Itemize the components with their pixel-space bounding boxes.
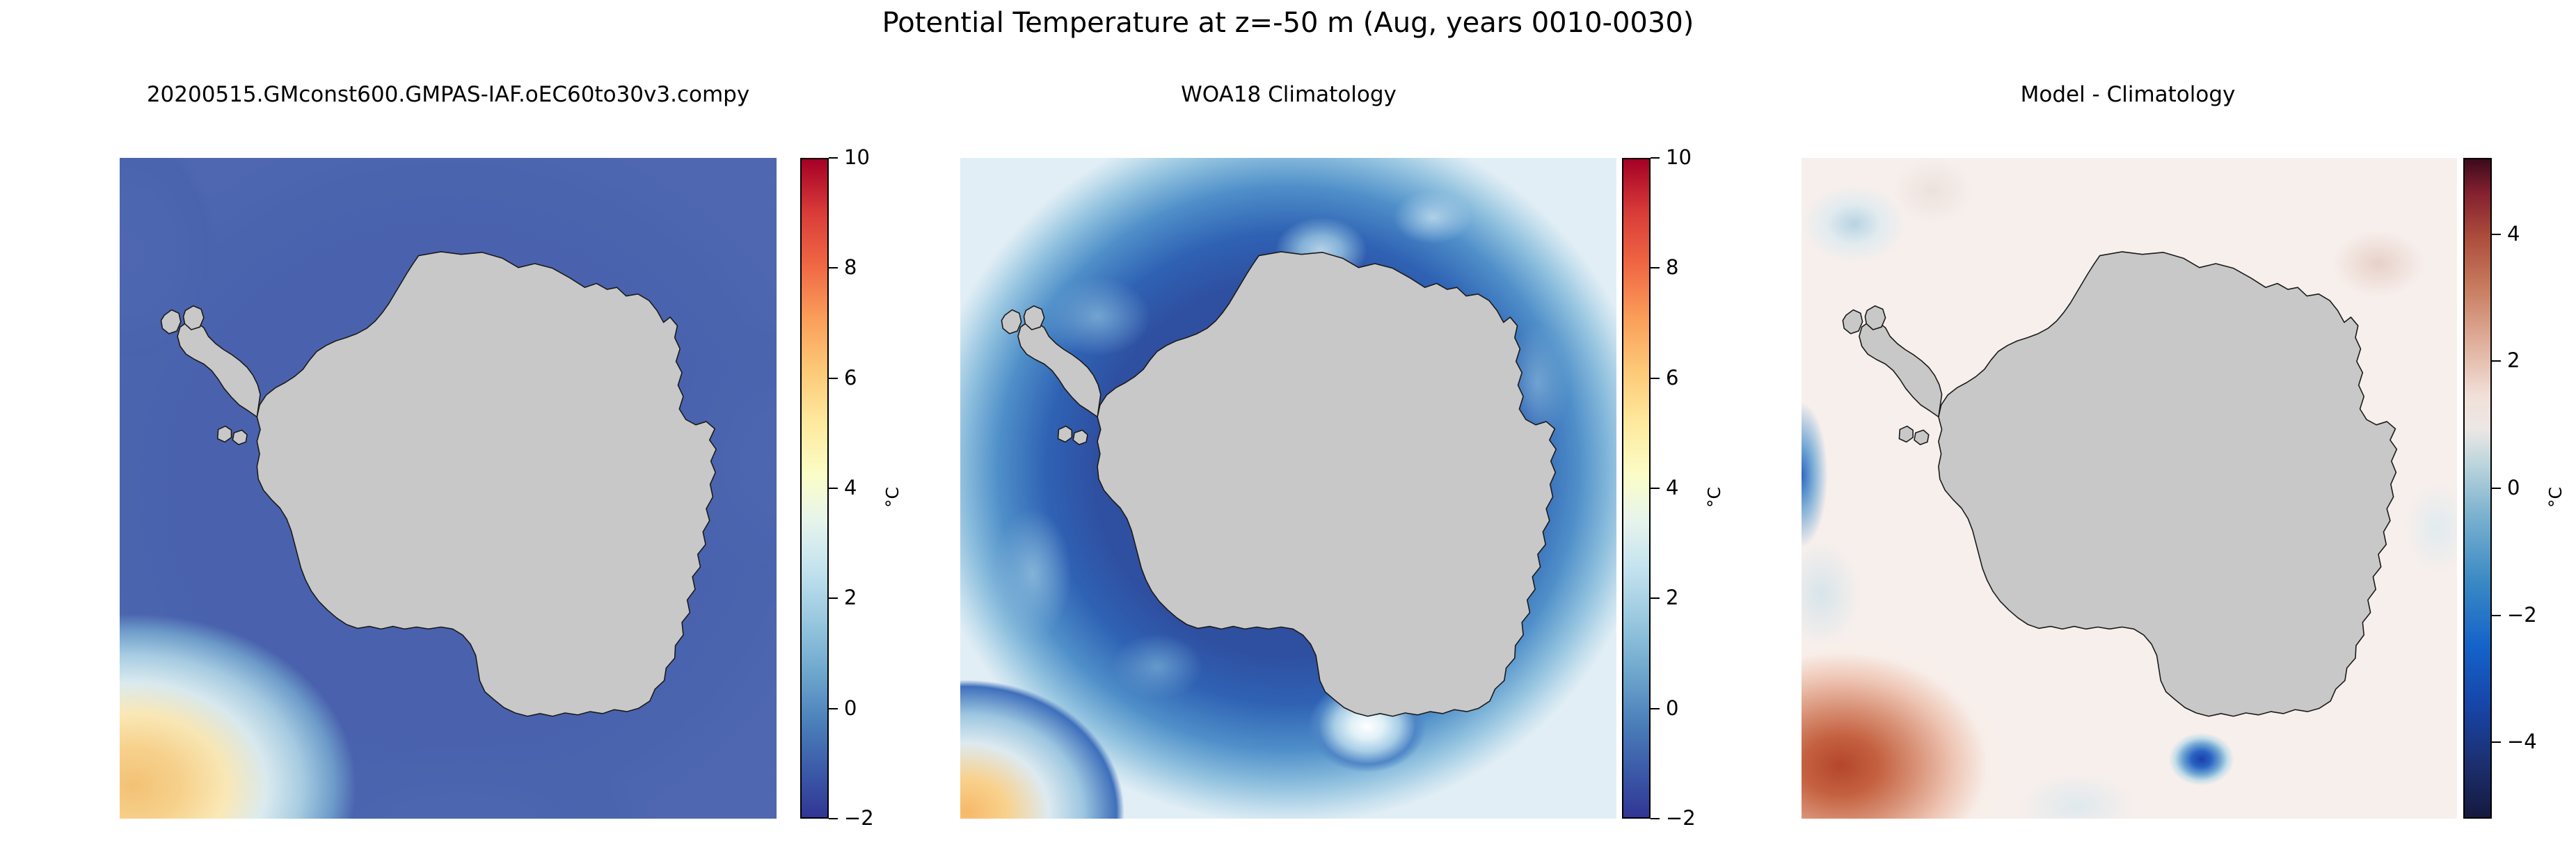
tick-mark [829,488,838,489]
tick-label: 8 [1666,254,1678,280]
tick-mark [2492,741,2501,743]
tick-label: 2 [1666,584,1678,611]
colorbar-ticks-climatology: 1086420−2 [1651,158,1755,819]
tick-label: 6 [844,364,857,391]
panel-title-difference: Model - Climatology [1680,82,2576,107]
colorbar-model[interactable] [800,158,829,819]
tick-mark [829,818,838,819]
tick-label: 4 [1666,474,1678,501]
tick-label: 0 [1666,695,1678,721]
tick-label: 0 [2507,474,2520,501]
colorbar-label-difference: °C [2545,487,2566,508]
tick-mark [2492,615,2501,616]
tick-label: 2 [844,584,857,611]
tick-label: 0 [844,695,857,721]
colorbar-label-climatology: °C [1704,487,1724,508]
coastline-island [1843,310,1862,334]
tick-label: −2 [844,805,874,831]
tick-label: −4 [2507,728,2537,755]
figure-suptitle: Potential Temperature at z=-50 m (Aug, y… [0,7,2576,39]
tick-mark [2492,360,2501,362]
antarctica-landmass-climatology [960,158,1616,819]
tick-label: 10 [1666,144,1692,170]
tick-label: 6 [1666,364,1678,391]
tick-mark [1651,597,1660,599]
colorbar-ticks-model: 1086420−2 [829,158,933,819]
tick-label: 8 [844,254,857,280]
tick-label: 2 [2507,347,2520,374]
coastline-island [232,430,247,444]
tick-mark [2492,234,2501,235]
tick-label: 4 [2507,220,2520,247]
tick-mark [829,708,838,709]
coastline-island [1914,430,1929,444]
colorbar-climatology[interactable] [1622,158,1651,819]
tick-mark [1651,708,1660,709]
coastline-island [218,426,232,442]
tick-mark [829,157,838,159]
coastline-main [1939,252,2396,716]
map-panel-difference[interactable] [1802,158,2457,819]
coastline-peninsula [177,322,260,417]
tick-mark [1651,488,1660,489]
tick-label: 10 [844,144,870,170]
tick-mark [1651,267,1660,268]
tick-mark [829,597,838,599]
colorbar-difference[interactable] [2463,158,2492,819]
coastline-main [1097,252,1556,716]
tick-mark [2492,488,2501,489]
tick-label: 4 [844,474,857,501]
colorbar-label-model: °C [882,487,903,508]
coastline-island [1073,430,1088,444]
tick-mark [829,378,838,379]
coastline-island [1899,426,1913,442]
tick-label: −2 [2507,602,2537,628]
coastline-peninsula [1859,322,1942,417]
map-panel-model[interactable] [120,158,777,819]
coastline-island [1058,426,1072,442]
antarctica-landmass-model [120,158,777,819]
antarctica-landmass-difference [1802,158,2457,819]
coastline-island [1001,310,1021,334]
tick-mark [829,267,838,268]
panel-title-model: 20200515.GMconst600.GMPAS-IAF.oEC60to30v… [0,82,896,107]
coastline-main [257,252,716,716]
tick-mark [1651,818,1660,819]
panel-title-climatology: WOA18 Climatology [841,82,1737,107]
coastline-peninsula [1018,322,1101,417]
map-panel-climatology[interactable] [960,158,1616,819]
tick-label: −2 [1666,805,1696,831]
coastline-island [161,310,180,334]
tick-mark [1651,157,1660,159]
tick-mark [1651,378,1660,379]
